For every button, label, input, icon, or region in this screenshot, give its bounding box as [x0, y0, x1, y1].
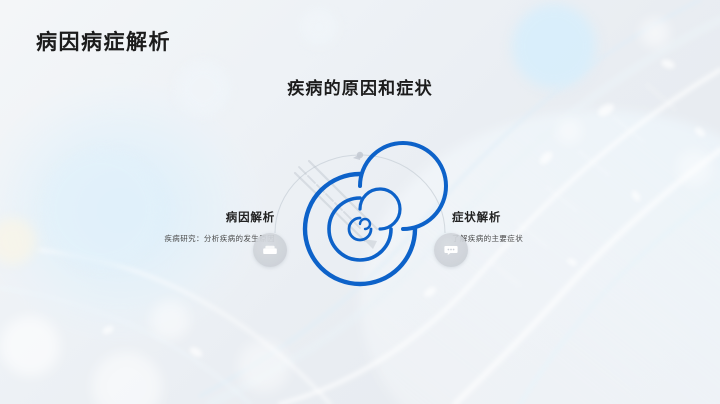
spiral-rings — [305, 143, 446, 284]
bokeh-circle — [238, 340, 290, 392]
bokeh-circle — [676, 150, 712, 186]
speech-bubble-icon — [443, 242, 459, 258]
bokeh-circle — [92, 352, 162, 404]
spiral-radar-graphic — [265, 137, 455, 297]
item-description: 了解疾病的主要症状 — [452, 234, 667, 243]
item-title: 症状解析 — [452, 212, 667, 225]
list-item[interactable]: 病因解析 疾病研究：分析疾病的发生原因 — [60, 212, 275, 243]
bokeh-circle — [0, 218, 36, 264]
document-icon — [262, 242, 278, 258]
bokeh-circle — [42, 150, 160, 268]
page-subtitle: 疾病的原因和症状 — [0, 74, 720, 99]
list-item[interactable]: 症状解析 了解疾病的主要症状 — [452, 212, 667, 243]
speech-bubble-icon-badge[interactable] — [434, 233, 468, 267]
item-title: 病因解析 — [60, 212, 275, 225]
bokeh-circle — [640, 18, 670, 48]
bokeh-circle — [0, 316, 60, 376]
document-icon-badge[interactable] — [253, 233, 287, 267]
bokeh-circle — [300, 8, 338, 46]
item-description: 疾病研究：分析疾病的发生原因 — [60, 234, 275, 243]
bokeh-circle — [150, 300, 190, 340]
slide-canvas: 病因病症解析 疾病的原因和症状 — [0, 0, 720, 404]
page-title: 病因病症解析 — [36, 26, 171, 56]
bokeh-circle — [556, 118, 582, 144]
